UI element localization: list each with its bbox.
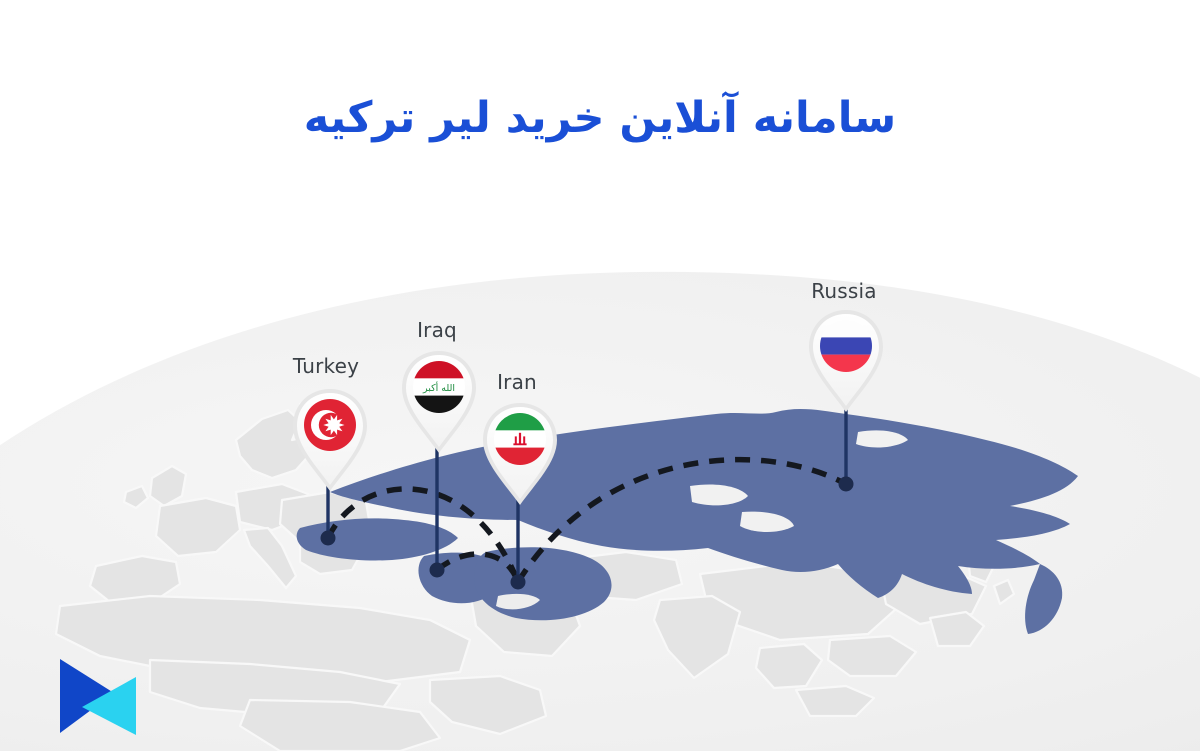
svg-text:الله أكبر: الله أكبر — [422, 381, 455, 394]
pin-label-russia: Russia — [806, 279, 882, 303]
brand-arrow-logo[interactable] — [52, 655, 144, 737]
pin-marker-iran[interactable] — [477, 398, 563, 510]
anchor-dot-iran — [511, 575, 526, 590]
russia-flag-icon — [820, 320, 872, 372]
anchor-dot-turkey — [321, 531, 336, 546]
anchor-dot-iraq — [430, 563, 445, 578]
iraq-flag-icon: الله أكبر — [413, 361, 465, 413]
iran-flag-icon — [494, 413, 546, 465]
pin-label-turkey: Turkey — [290, 354, 362, 378]
pin-marker-russia[interactable] — [803, 305, 889, 417]
page-title-text: سامانه آنلاین خرید لیر ترکیه — [304, 92, 896, 146]
pin-marker-turkey[interactable] — [287, 384, 373, 496]
pin-label-iraq: Iraq — [413, 318, 461, 342]
pin-label-iran: Iran — [494, 370, 540, 394]
pin-marker-iraq[interactable]: الله أكبر — [396, 346, 482, 458]
anchor-dot-russia — [839, 477, 854, 492]
turkey-flag-icon — [304, 399, 356, 451]
page-title: سامانه آنلاین خرید لیر ترکیه — [0, 92, 1200, 146]
infographic-canvas: سامانه آنلاین خرید لیر ترکیه Turkey Iraq — [0, 0, 1200, 751]
